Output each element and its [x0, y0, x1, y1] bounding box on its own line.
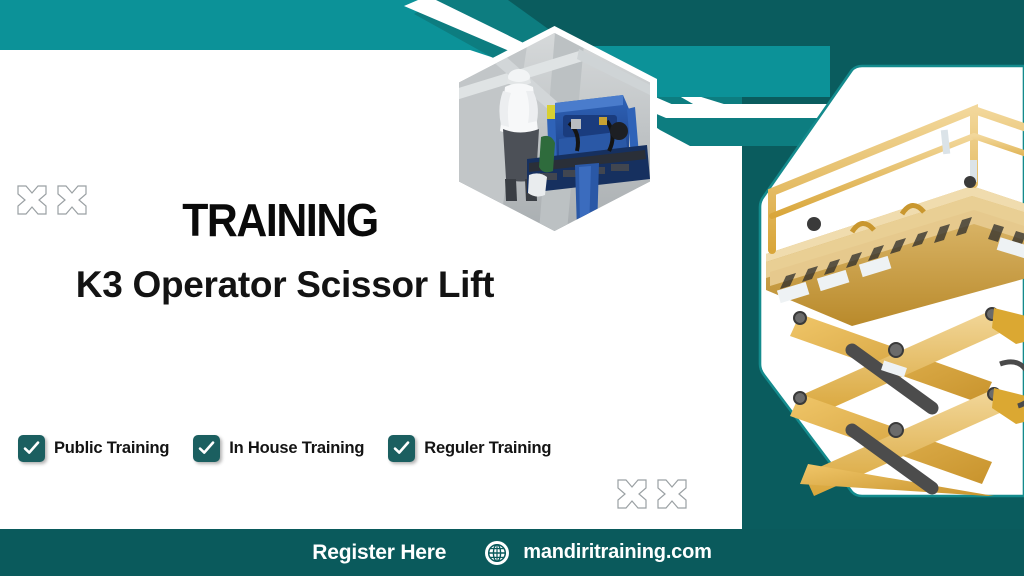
- register-here-label[interactable]: Register Here: [312, 541, 446, 565]
- training-option-label: Public Training: [54, 439, 169, 458]
- training-promo-banner: TRAINING K3 Operator Scissor Lift Pu: [0, 0, 1024, 576]
- training-options-row: Public Training In House Training Regule…: [18, 435, 551, 462]
- x-marks-decoration-right: [614, 472, 694, 522]
- website-link[interactable]: mandiritraining.com: [484, 540, 711, 566]
- scissor-lift-image: [756, 64, 1024, 496]
- training-option-label: Reguler Training: [424, 439, 551, 458]
- page-title-kicker: TRAINING: [20, 197, 541, 243]
- lift-platform-deck: [766, 186, 1024, 326]
- page-title: K3 Operator Scissor Lift: [0, 265, 570, 306]
- checkbox-checked-icon[interactable]: [18, 435, 45, 462]
- training-option-in-house[interactable]: In House Training: [193, 435, 364, 462]
- footer-bar: Register Here mandiritraining.com: [0, 529, 1024, 576]
- training-option-public[interactable]: Public Training: [18, 435, 169, 462]
- globe-icon: [484, 540, 510, 566]
- lift-scissor-arms: [790, 308, 1024, 496]
- website-url: mandiritraining.com: [523, 541, 711, 564]
- training-option-label: In House Training: [229, 439, 364, 458]
- checkbox-checked-icon[interactable]: [388, 435, 415, 462]
- training-option-reguler[interactable]: Reguler Training: [388, 435, 551, 462]
- checkbox-checked-icon[interactable]: [193, 435, 220, 462]
